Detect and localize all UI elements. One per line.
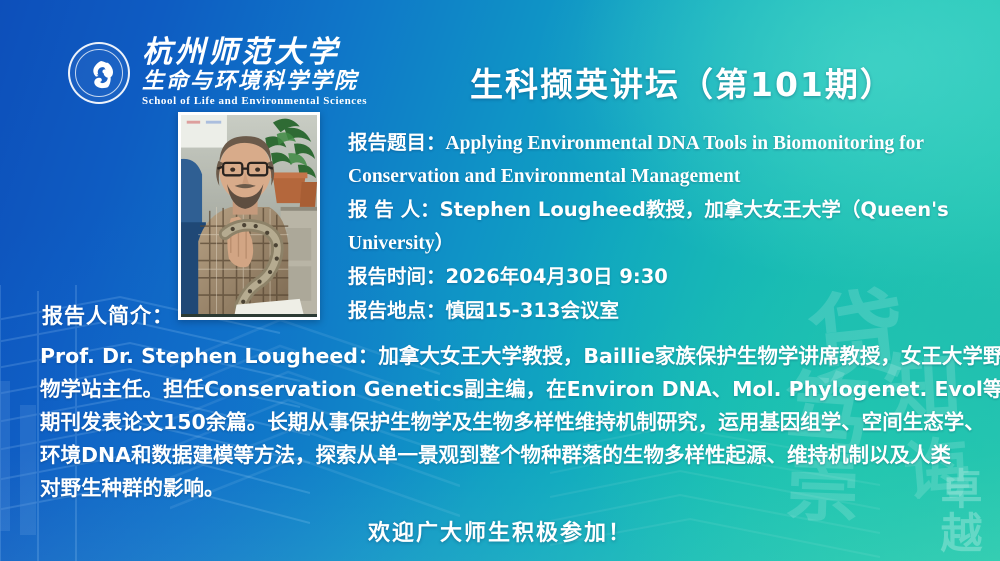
title-value-line1: Applying Environmental DNA Tools in Biom…: [446, 133, 925, 154]
bio-line-4: 环境DNA和数据建模等方法，探索从单一景观到整个物种群落的生物多样性起源、维持机…: [40, 439, 980, 472]
bio-label: 报告人简介：: [42, 300, 174, 330]
seminar-series-title: 生科撷英讲坛（第101期）: [470, 58, 895, 106]
title-label: 报告题目：: [348, 131, 446, 154]
university-name-cn: 杭州师范大学: [142, 38, 367, 68]
info-row-title: 报告题目：Applying Environmental DNA Tools in…: [348, 126, 988, 160]
speaker-label: 报 告 人：: [348, 198, 440, 221]
invitation-footer: 欢迎广大师生积极参加！: [0, 515, 1000, 547]
place-value: 慎园15-313会议室: [446, 299, 619, 322]
speaker-photo-frame: [178, 112, 320, 320]
poster-header: 杭州师范大学 生命与环境科学学院 School of Life and Envi…: [0, 0, 1000, 112]
university-seal-icon: [68, 42, 130, 104]
seminar-info-block: 报告题目：Applying Environmental DNA Tools in…: [348, 126, 988, 328]
speaker-photo: [181, 115, 317, 314]
college-name-cn: 生命与环境科学学院: [142, 71, 367, 93]
info-row-speaker-cont: University）: [348, 227, 988, 260]
info-row-speaker: 报 告 人：Stephen Lougheed教授，加拿大女王大学（Queen's: [348, 193, 988, 227]
info-row-place: 报告地点：慎园15-313会议室: [348, 294, 988, 328]
bio-line-2: 物学站主任。担任Conservation Genetics副主编，在Enviro…: [40, 373, 980, 406]
place-label: 报告地点：: [348, 299, 446, 322]
time-label: 报告时间：: [348, 265, 446, 288]
university-name-group: 杭州师范大学 生命与环境科学学院 School of Life and Envi…: [142, 38, 367, 107]
time-value: 2026年04月30日 9:30: [446, 265, 668, 288]
speaker-value-line2: University）: [348, 233, 454, 254]
college-name-en: School of Life and Environmental Science…: [142, 96, 367, 107]
bio-line-1: Prof. Dr. Stephen Lougheed：加拿大女王大学教授，Bai…: [40, 340, 980, 373]
seminar-poster: 贷 笃 知 崇 诲 卓越 杭州师范大学 生命与环境科学学院 School of …: [0, 0, 1000, 561]
info-row-title-cont: Conservation and Environmental Managemen…: [348, 160, 988, 193]
info-row-time: 报告时间：2026年04月30日 9:30: [348, 260, 988, 294]
bio-line-3: 期刊发表论文150余篇。长期从事保护生物学及生物多样性维持机制研究，运用基因组学…: [40, 406, 980, 439]
university-logo-block: 杭州师范大学 生命与环境科学学院 School of Life and Envi…: [68, 38, 367, 107]
speaker-value-line1: Stephen Lougheed教授，加拿大女王大学（Queen's: [440, 198, 949, 221]
bio-line-5: 对野生种群的影响。: [40, 472, 980, 505]
title-value-line2: Conservation and Environmental Managemen…: [348, 166, 740, 187]
bio-body: Prof. Dr. Stephen Lougheed：加拿大女王大学教授，Bai…: [40, 340, 980, 505]
